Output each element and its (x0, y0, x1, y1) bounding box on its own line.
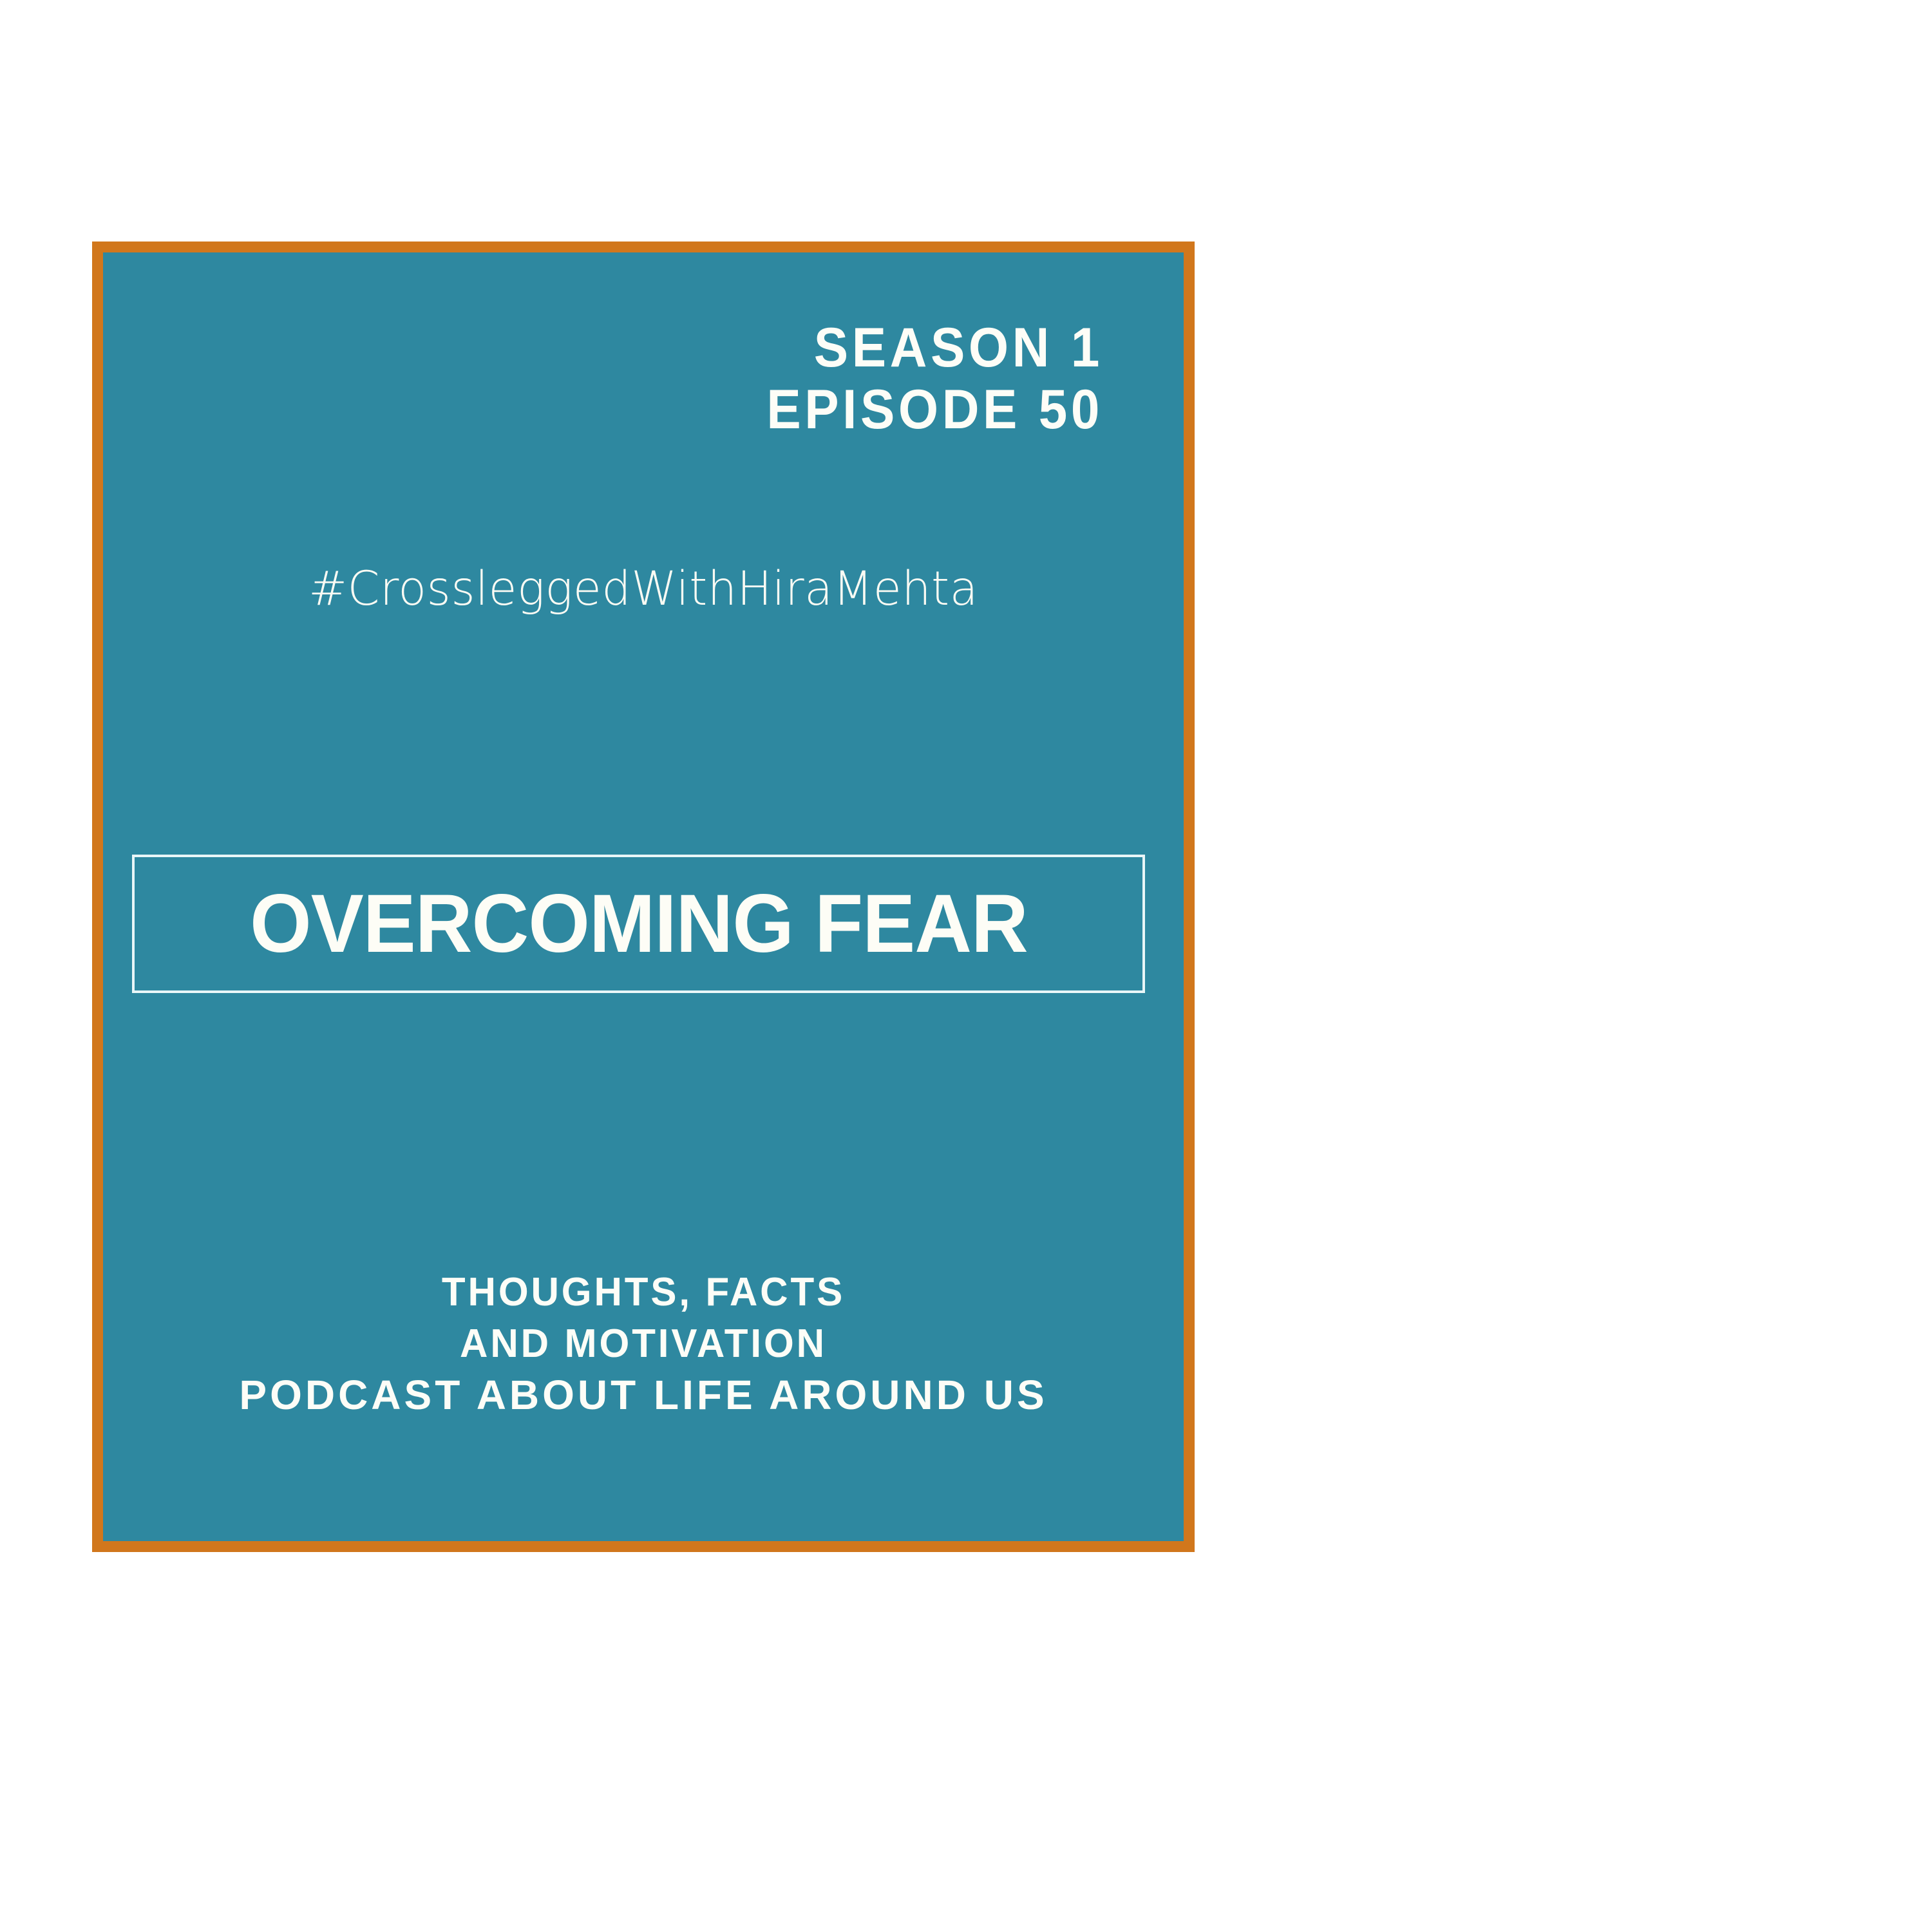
podcast-cover-card: SEASON 1 EPISODE 50 #CrossleggedWithHira… (92, 241, 1195, 1552)
tagline-line-2: AND MOTIVATION (119, 1318, 1168, 1369)
season-episode-block: SEASON 1 EPISODE 50 (766, 317, 1103, 441)
season-label: SEASON 1 (766, 317, 1103, 379)
episode-label: EPISODE 50 (766, 379, 1103, 440)
tagline-line-3: PODCAST ABOUT LIFE AROUND US (103, 1369, 1184, 1422)
podcast-hashtag: #CrossleggedWithHiraMehta (114, 562, 1173, 616)
page-canvas: SEASON 1 EPISODE 50 #CrossleggedWithHira… (0, 0, 1932, 1932)
episode-title-box: OVERCOMING FEAR (132, 855, 1145, 993)
episode-title: OVERCOMING FEAR (250, 883, 1028, 965)
tagline-line-1: THOUGHTS, FACTS (119, 1267, 1168, 1318)
tagline-block: THOUGHTS, FACTS AND MOTIVATION PODCAST A… (103, 1267, 1184, 1422)
cover-card-inner: SEASON 1 EPISODE 50 #CrossleggedWithHira… (103, 252, 1184, 1541)
